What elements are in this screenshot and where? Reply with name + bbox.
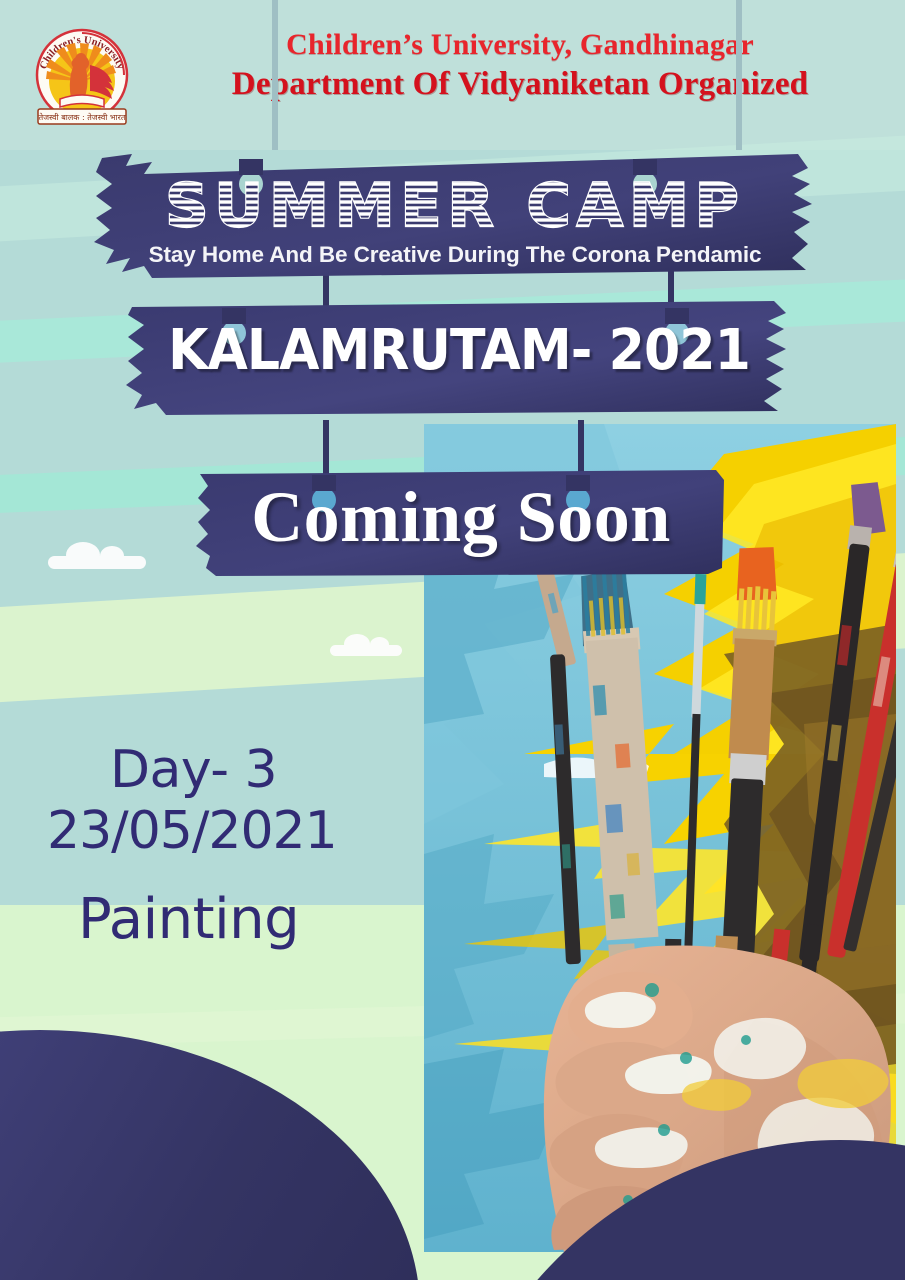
header-line-2: Department Of Vidyaniketan Organized: [150, 64, 890, 105]
svg-text:SUMMER CAMP: SUMMER CAMP: [165, 171, 745, 241]
hanging-string: [736, 0, 742, 150]
coming-soon-banner: Coming Soon: [196, 468, 726, 578]
event-info-block: Day- 3 23/05/2021 Painting: [0, 742, 430, 950]
poster-canvas: Children's University: [0, 0, 905, 1280]
coming-soon-title: Coming Soon: [196, 476, 726, 559]
summer-camp-subtitle: Stay Home And Be Creative During The Cor…: [92, 242, 818, 268]
poster-header: Children's University: [0, 0, 905, 140]
cloud-icon: [330, 645, 402, 656]
header-title-block: Children’s University, Gandhinagar Depar…: [150, 26, 890, 105]
summer-camp-title-wrap: SUMMER CAMP: [92, 172, 818, 242]
cloud-icon: [48, 556, 146, 569]
svg-text:तेजस्वी बालक : तेजस्वी भारत: तेजस्वी बालक : तेजस्वी भारत: [39, 112, 126, 122]
header-line-1: Children’s University, Gandhinagar: [150, 26, 890, 64]
event-day: Day- 3: [0, 742, 430, 798]
kalamrutam-banner: KALAMRUTAM- 2021: [126, 297, 792, 417]
children-university-logo-icon: Children's University: [22, 27, 154, 132]
hanging-string: [272, 0, 278, 150]
kalamrutam-title: KALAMRUTAM- 2021: [149, 318, 768, 383]
summer-camp-banner: SUMMER CAMP Stay Home And Be Creative Du…: [92, 146, 818, 288]
event-activity: Painting: [0, 889, 430, 951]
event-date: 23/05/2021: [0, 798, 430, 865]
